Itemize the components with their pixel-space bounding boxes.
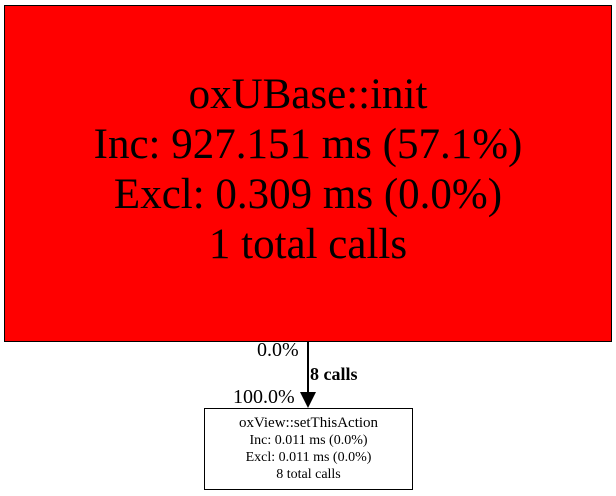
node-child-exclusive: Excl: 0.011 ms (0.0%) xyxy=(246,449,372,466)
node-root-inclusive: Inc: 927.151 ms (57.1%) xyxy=(94,120,523,170)
edge-arrowhead-icon xyxy=(300,392,316,408)
edge-root-to-child-line xyxy=(307,342,309,394)
graph-node-root[interactable]: oxUBase::init Inc: 927.151 ms (57.1%) Ex… xyxy=(4,5,612,342)
edge-head-percent-label: 0.0% xyxy=(257,340,299,360)
node-child-title: oxView::setThisAction xyxy=(239,415,378,432)
call-graph-canvas: oxUBase::init Inc: 927.151 ms (57.1%) Ex… xyxy=(0,0,616,496)
edge-calls-label: 8 calls xyxy=(310,364,358,384)
node-child-calls: 8 total calls xyxy=(276,466,341,483)
node-root-calls: 1 total calls xyxy=(209,220,407,270)
node-root-title: oxUBase::init xyxy=(189,70,428,120)
node-root-exclusive: Excl: 0.309 ms (0.0%) xyxy=(114,170,502,220)
node-child-inclusive: Inc: 0.011 ms (0.0%) xyxy=(249,432,367,449)
edge-tail-percent-label: 100.0% xyxy=(233,387,295,407)
graph-node-child[interactable]: oxView::setThisAction Inc: 0.011 ms (0.0… xyxy=(204,408,413,490)
